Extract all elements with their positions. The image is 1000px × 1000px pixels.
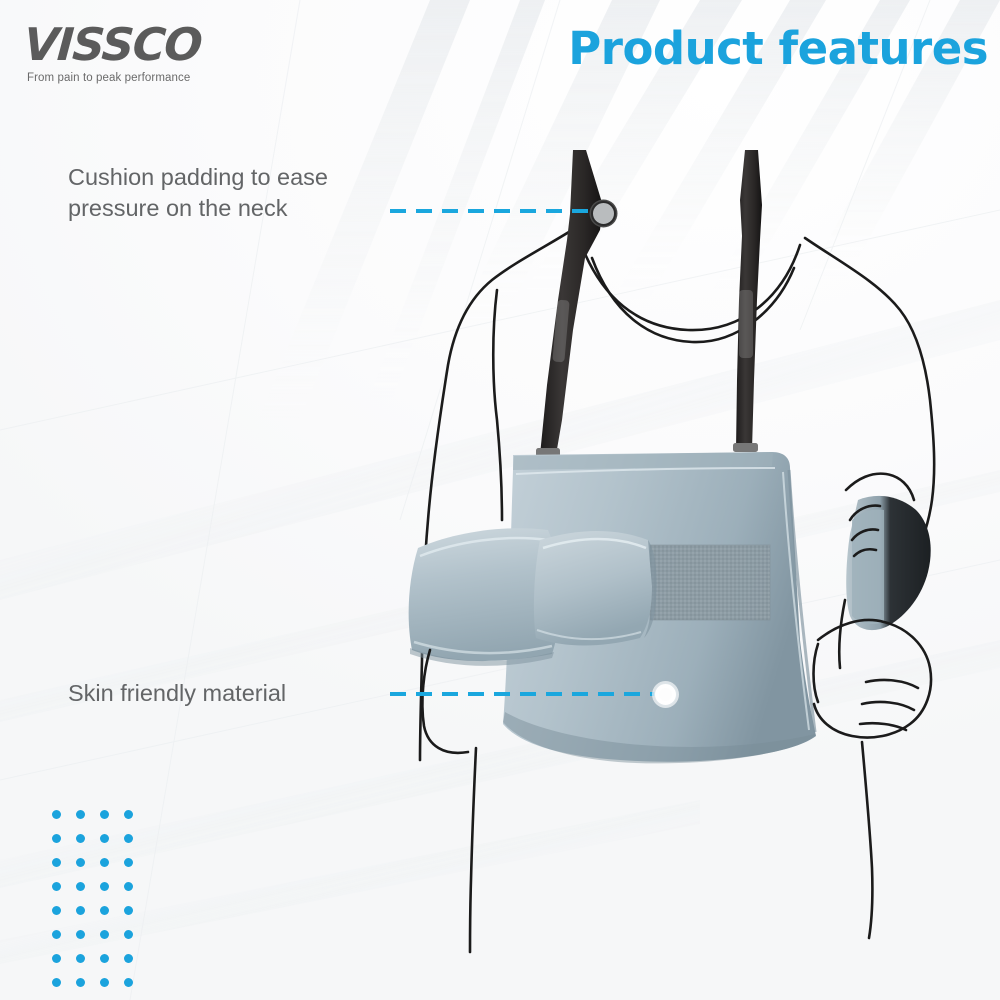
decorative-dot: [76, 930, 85, 939]
callout-skin-friendly: Skin friendly material: [68, 678, 286, 709]
decorative-dot: [76, 954, 85, 963]
left-strap: [540, 150, 603, 455]
decorative-dot: [76, 810, 85, 819]
decorative-dot: [124, 858, 133, 867]
decorative-dot: [124, 810, 133, 819]
decorative-dot: [52, 978, 61, 987]
sling-fabric-marker: [654, 683, 677, 706]
decorative-dot: [76, 978, 85, 987]
callout-line-2: pressure on the neck: [68, 193, 328, 224]
connector-line-skin-friendly: [390, 692, 668, 696]
decorative-dot: [52, 858, 61, 867]
decorative-dot: [52, 954, 61, 963]
decorative-dot: [124, 882, 133, 891]
callout-cushion-padding: Cushion padding to ease pressure on the …: [68, 162, 328, 225]
strap-grommet-marker: [591, 201, 616, 226]
decorative-dot: [100, 954, 109, 963]
decorative-dot: [100, 810, 109, 819]
velcro-closure-flap: [534, 531, 657, 646]
decorative-dot: [52, 930, 61, 939]
decorative-dot: [100, 858, 109, 867]
callout-line-1: Skin friendly material: [68, 678, 286, 709]
decorative-dot: [52, 834, 61, 843]
decorative-dot: [100, 978, 109, 987]
right-strap-slider: [733, 443, 758, 452]
connector-line-cushion-padding: [390, 209, 605, 213]
decorative-dot: [100, 834, 109, 843]
elbow-outline: [422, 650, 468, 753]
decorative-dot: [124, 930, 133, 939]
decorative-dot: [76, 906, 85, 915]
decorative-dot: [124, 978, 133, 987]
decorative-dot: [100, 882, 109, 891]
neck-shoulder-straps: [536, 150, 762, 457]
decorative-dot: [52, 810, 61, 819]
callout-line-1: Cushion padding to ease: [68, 162, 328, 193]
decorative-dot: [76, 882, 85, 891]
decorative-dot: [124, 834, 133, 843]
product-illustration: [0, 0, 1000, 1000]
decorative-dot: [124, 954, 133, 963]
decorative-dot: [100, 930, 109, 939]
hand-holding-strap-end: [846, 496, 930, 630]
decorative-dot: [52, 882, 61, 891]
decorative-dot: [76, 834, 85, 843]
decorative-dot: [52, 906, 61, 915]
decorative-dot: [124, 906, 133, 915]
velcro-hook-patch: [650, 545, 770, 620]
product-features-page: VISSCO From pain to peak performance Pro…: [0, 0, 1000, 1000]
decorative-dot: [100, 906, 109, 915]
decorative-dot: [76, 858, 85, 867]
